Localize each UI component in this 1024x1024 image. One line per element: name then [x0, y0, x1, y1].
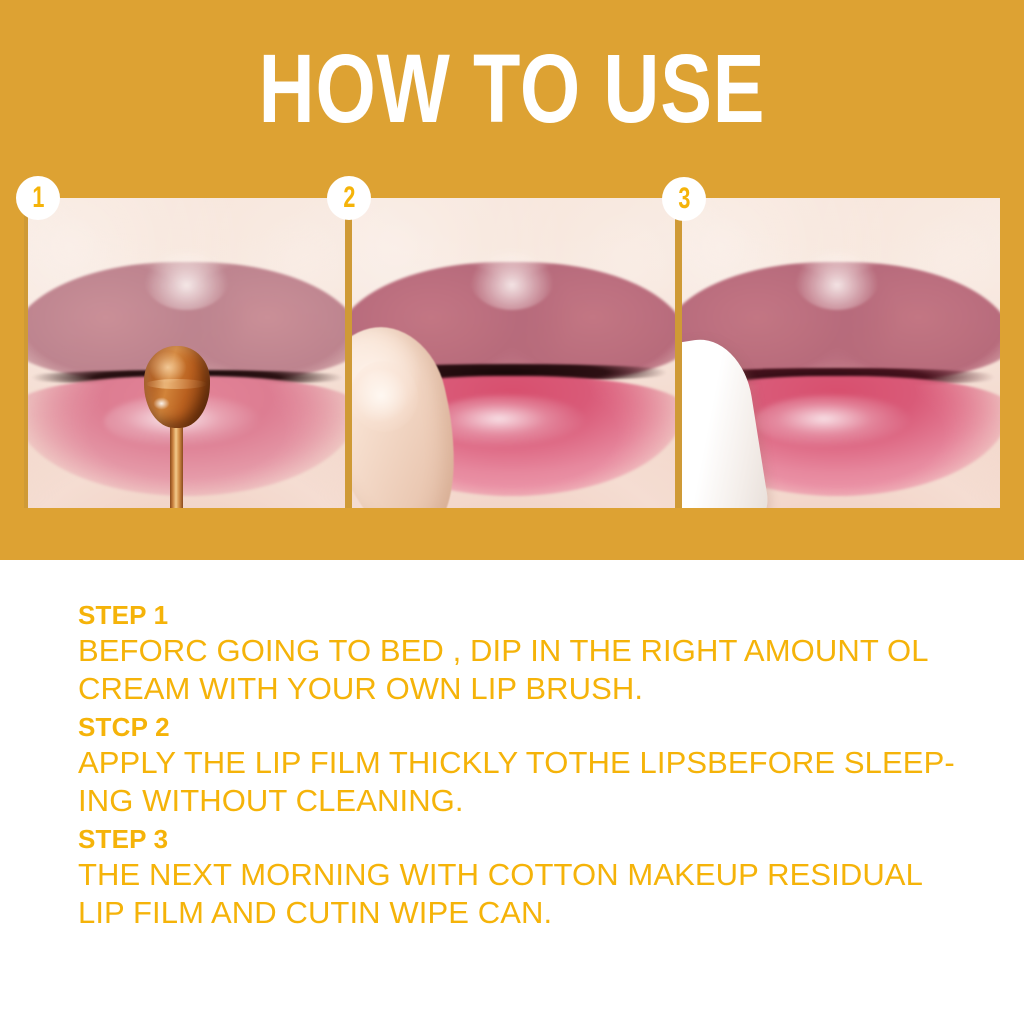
step-badge-2: 2: [327, 176, 371, 220]
instruction-step-3: STEP 3 THE NEXT MORNING WITH COTTON MAKE…: [78, 824, 978, 932]
step-badge-3: 3: [662, 177, 706, 221]
step-image-strip: [24, 198, 1000, 508]
step-badge-1-label: 1: [32, 183, 44, 213]
step-3-heading: STEP 3: [78, 824, 978, 854]
step-3-body: THE NEXT MORNING WITH COTTON MAKEUP RESI…: [78, 856, 978, 932]
step-image-1: [24, 198, 349, 508]
panel-divider-1: [345, 198, 352, 508]
step-badge-2-label: 2: [343, 183, 355, 213]
applicator-rod-icon: [170, 426, 183, 508]
instructions-list: STEP 1 BEFORC GOING TO BED , DIP IN THE …: [78, 600, 978, 936]
step-2-body: APPLY THE LIP FILM THICKLY TOTHE LIPSBEF…: [78, 744, 978, 820]
page-title: HOW TO USE: [102, 40, 921, 137]
applicator-bead-icon: [144, 346, 210, 428]
strip-left-edge: [24, 198, 28, 508]
step-2-heading: STCP 2: [78, 712, 978, 742]
panel-divider-2: [675, 198, 682, 508]
step-1-body: BEFORC GOING TO BED , DIP IN THE RIGHT A…: [78, 632, 978, 708]
instruction-step-2: STCP 2 APPLY THE LIP FILM THICKLY TOTHE …: [78, 712, 978, 820]
instruction-step-1: STEP 1 BEFORC GOING TO BED , DIP IN THE …: [78, 600, 978, 708]
step-badge-1: 1: [16, 176, 60, 220]
step-badge-3-label: 3: [678, 184, 690, 214]
step-1-heading: STEP 1: [78, 600, 978, 630]
step-image-3: [675, 198, 1000, 508]
step-image-2: [349, 198, 674, 508]
